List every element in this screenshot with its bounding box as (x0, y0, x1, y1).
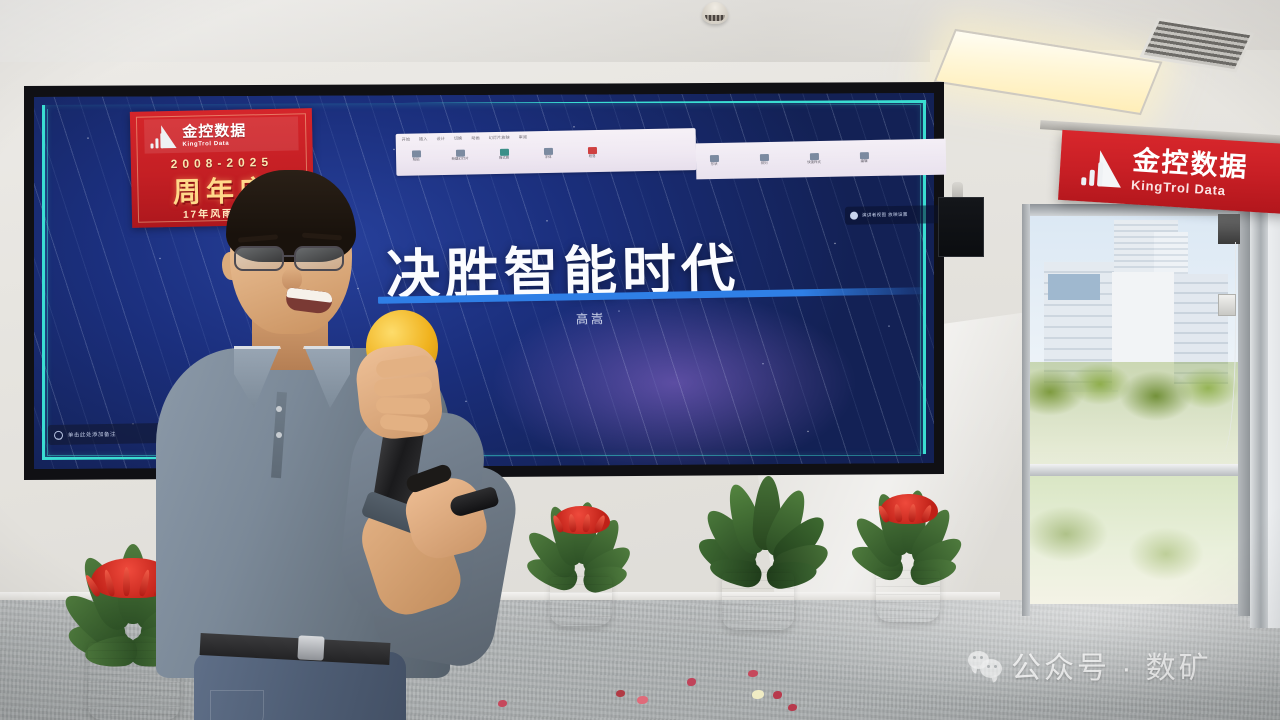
plant-3-pot (722, 572, 794, 630)
blind-housing (1218, 214, 1240, 244)
shapes-button[interactable]: 形状 (700, 155, 728, 167)
poster-brand-cn: 金控数据 (182, 123, 246, 139)
quick-styles-button[interactable]: 快速样式 (800, 153, 828, 165)
petal (498, 700, 507, 707)
shapes-label: 形状 (711, 163, 718, 167)
smiley-icon (54, 430, 63, 439)
window-sash (1026, 464, 1244, 476)
plant-4-foliage (846, 474, 972, 576)
notes-placeholder-label: 单击此处添加备注 (68, 430, 116, 439)
plant-4 (846, 472, 972, 622)
watermark-text: 公众号 · 数矿 (1011, 643, 1212, 687)
window-post-outer (1268, 198, 1280, 628)
window-mullion-left (1022, 204, 1030, 616)
wall-speaker (938, 197, 984, 257)
petal (748, 670, 758, 677)
tab-animations[interactable]: 动画 (471, 135, 480, 141)
jeans-pocket (210, 690, 264, 720)
tab-insert[interactable]: 插入 (419, 136, 428, 142)
petal (773, 691, 782, 699)
font-label: 字体 (545, 156, 552, 160)
poster-logo: 金控数据 KingTrol Data (144, 116, 299, 153)
window (1022, 198, 1280, 628)
plant-2-foliage (522, 488, 642, 584)
format-painter-button[interactable]: 格式刷 (490, 149, 518, 161)
window-post (1250, 198, 1268, 628)
new-slide-label: 新建幻灯片 (452, 157, 469, 161)
petal (788, 704, 797, 711)
tab-transitions[interactable]: 切换 (454, 136, 463, 142)
plant-4-flower (880, 494, 938, 524)
ribbon-tool-group-right[interactable]: 形状 排列 快速样式 编辑 (700, 152, 878, 167)
building-left-accent (1048, 274, 1100, 300)
tab-design[interactable]: 设计 (436, 136, 445, 142)
polo-collar (234, 346, 350, 414)
photo-scene: 开始 插入 设计 切换 动画 幻灯片放映 审阅 粘贴 新建幻灯片 格式刷 字体 … (0, 0, 1280, 720)
window-lower-view (1026, 474, 1240, 604)
plant-4-pot (876, 570, 940, 622)
petal (752, 690, 764, 699)
new-slide-button[interactable]: 新建幻灯片 (446, 149, 474, 161)
plant-2-pot (550, 576, 612, 626)
slide-byline: 高嵩 (536, 309, 646, 328)
kingtrol-banner-logo-icon (1081, 147, 1123, 187)
shirt-button-2 (276, 432, 282, 438)
presenter (150, 170, 480, 720)
petal (687, 678, 696, 686)
powerpoint-ribbon-right[interactable]: 形状 排列 快速样式 编辑 (696, 139, 947, 180)
kingtrol-logo-icon (150, 124, 176, 149)
company-banner: 金控数据 KingTrol Data (1058, 130, 1280, 214)
poster-brand-en: KingTrol Data (182, 140, 246, 147)
tab-home[interactable]: 开始 (402, 137, 411, 143)
tab-review[interactable]: 审阅 (519, 134, 528, 140)
wechat-icon (968, 651, 1002, 679)
smoke-detector-icon (702, 2, 728, 24)
quick-styles-label: 快速样式 (807, 161, 821, 165)
paragraph-button[interactable]: 段落 (578, 147, 606, 159)
window-glass (1026, 212, 1240, 604)
tab-slideshow[interactable]: 幻灯片放映 (489, 135, 510, 141)
plant-3-foliage (690, 466, 840, 578)
plant-3 (690, 470, 840, 630)
avatar (850, 212, 858, 220)
arrange-label: 排列 (761, 162, 768, 166)
ribbon-tab-strip[interactable]: 开始 插入 设计 切换 动画 幻灯片放映 审阅 (402, 134, 528, 142)
plant-2 (522, 486, 642, 626)
petal (616, 690, 625, 697)
shirt-button-1 (276, 406, 282, 412)
paste-button[interactable]: 粘贴 (402, 150, 430, 162)
eyeglasses (232, 246, 356, 272)
editing-button[interactable]: 编辑 (850, 152, 878, 164)
paragraph-label: 段落 (589, 155, 596, 159)
watermark: 公众号 · 数矿 (968, 645, 1212, 685)
lens-right (294, 246, 344, 271)
ribbon-tool-group[interactable]: 粘贴 新建幻灯片 格式刷 字体 段落 (402, 147, 606, 162)
paste-label: 粘贴 (413, 158, 420, 162)
arrange-button[interactable]: 排列 (750, 154, 778, 166)
powerpoint-ribbon[interactable]: 开始 插入 设计 切换 动画 幻灯片放映 审阅 粘贴 新建幻灯片 格式刷 字体 … (396, 128, 697, 176)
format-painter-label: 格式刷 (499, 157, 509, 161)
belt-buckle (297, 635, 324, 660)
blind-chain-clip[interactable] (1218, 294, 1236, 316)
plant-2-flower (554, 506, 610, 534)
font-button[interactable]: 字体 (534, 148, 562, 160)
presenter-badge-label: 演讲者视图 放映设置 (862, 212, 908, 219)
editing-label: 编辑 (861, 160, 868, 164)
lens-left (234, 246, 284, 271)
speaker-mount (952, 182, 963, 198)
banner-brand-cn: 金控数据 (1132, 147, 1249, 181)
petal (637, 696, 648, 704)
